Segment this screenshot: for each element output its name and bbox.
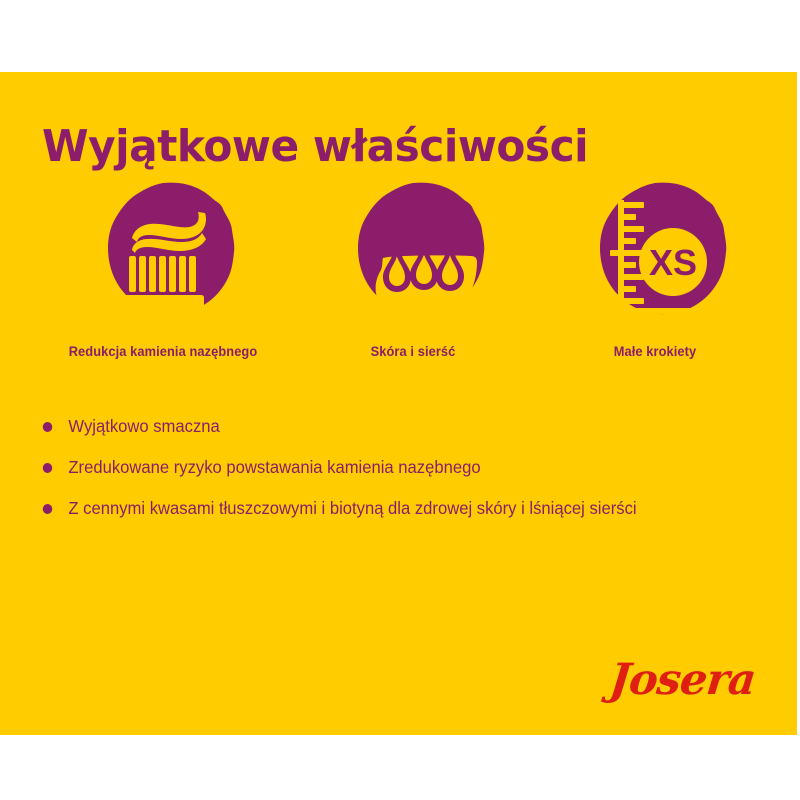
feature-label-skin-coat: Skóra i sierść (290, 344, 537, 360)
feature-item-tartar: Redukcja kamienia nazębnego (33, 180, 293, 360)
feature-label-kibble-size: Małe krokiety (532, 344, 779, 360)
infographic-root: Wyjątkowe właściwości (0, 0, 800, 800)
kibble-size-badge-text: XS (649, 242, 697, 283)
list-item: Z cennymi kwasami tłuszczowymi i biotyną… (38, 496, 703, 521)
feature-item-kibble-size: XS Małe krokiety (525, 180, 785, 360)
list-item: Zredukowane ryzyko powstawania kamienia … (38, 455, 703, 480)
bullet-dot-icon (43, 504, 53, 514)
list-item-text: Zredukowane ryzyko powstawania kamienia … (68, 457, 480, 477)
brand-logo: Josera (607, 657, 757, 703)
list-item-text: Wyjątkowo smaczna (68, 416, 219, 436)
hair-follicle-icon (338, 180, 488, 330)
feature-icon-row: Redukcja kamienia nazębnego (0, 180, 797, 390)
feature-label-tartar: Redukcja kamienia nazębnego (40, 344, 287, 360)
kibble-size-xs-icon: XS (580, 180, 730, 330)
page-title: Wyjątkowe właściwości (42, 121, 588, 173)
yellow-panel: Wyjątkowe właściwości (0, 72, 797, 735)
toothbrush-icon (88, 180, 238, 330)
feature-item-skin-coat: Skóra i sierść (283, 180, 543, 360)
list-item: Wyjątkowo smaczna (38, 414, 703, 439)
bullet-dot-icon (43, 422, 53, 432)
benefits-list: Wyjątkowo smaczna Zredukowane ryzyko pow… (38, 414, 738, 537)
list-item-text: Z cennymi kwasami tłuszczowymi i biotyną… (68, 498, 636, 518)
bullet-dot-icon (43, 463, 53, 473)
